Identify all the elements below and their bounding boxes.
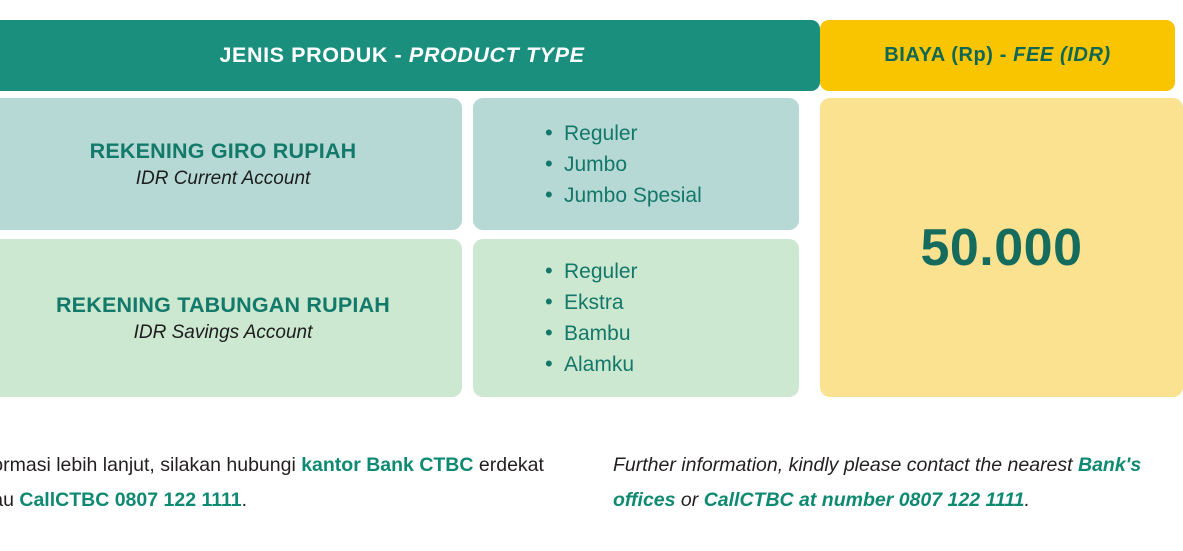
note-en-part2: or bbox=[676, 489, 704, 511]
note-id-part3: . bbox=[242, 489, 247, 511]
fee-value-cell: 50.000 bbox=[820, 98, 1183, 397]
list-item: Reguler bbox=[545, 118, 799, 149]
variant-cell-savings-account: Reguler Ekstra Bambu Alamku bbox=[473, 239, 799, 397]
header-product-type-id: JENIS PRODUK bbox=[219, 43, 387, 67]
header-product-type-en: PRODUCT TYPE bbox=[409, 43, 585, 67]
header-fee-id: BIAYA (Rp) bbox=[884, 44, 993, 66]
fee-table: JENIS PRODUK - PRODUCT TYPE BIAYA (Rp) -… bbox=[0, 20, 1183, 397]
header-cell-fee: BIAYA (Rp) - FEE (IDR) bbox=[820, 20, 1175, 91]
list-item: Jumbo Spesial bbox=[545, 180, 799, 211]
header-fee-text: BIAYA (Rp) - FEE (IDR) bbox=[884, 44, 1111, 67]
note-english: Further information, kindly please conta… bbox=[613, 448, 1183, 518]
header-product-type-text: JENIS PRODUK - PRODUCT TYPE bbox=[219, 43, 584, 68]
header-fee-en: FEE (IDR) bbox=[1013, 44, 1111, 66]
product-cell-savings-account: REKENING TABUNGAN RUPIAH IDR Savings Acc… bbox=[0, 239, 462, 397]
note-en-part3: . bbox=[1025, 489, 1030, 511]
variant-list: Reguler Ekstra Bambu Alamku bbox=[473, 256, 799, 380]
fee-table-infographic: JENIS PRODUK - PRODUCT TYPE BIAYA (Rp) -… bbox=[0, 0, 1183, 551]
list-item: Alamku bbox=[545, 349, 799, 380]
product-subtitle: IDR Savings Account bbox=[134, 322, 313, 344]
header-fee-separator: - bbox=[994, 44, 1014, 66]
table-body: REKENING GIRO RUPIAH IDR Current Account… bbox=[0, 98, 1183, 397]
product-name: REKENING TABUNGAN RUPIAH bbox=[56, 293, 390, 318]
product-cell-current-account: REKENING GIRO RUPIAH IDR Current Account bbox=[0, 98, 462, 230]
list-item: Bambu bbox=[545, 318, 799, 349]
variant-list: Reguler Jumbo Jumbo Spesial bbox=[473, 118, 799, 211]
table-header-row: JENIS PRODUK - PRODUCT TYPE BIAYA (Rp) -… bbox=[0, 20, 1183, 91]
note-indonesian: nformasi lebih lanjut, silakan hubungi k… bbox=[0, 448, 576, 518]
product-subtitle: IDR Current Account bbox=[136, 168, 311, 190]
product-name: REKENING GIRO RUPIAH bbox=[90, 139, 357, 164]
list-item: Jumbo bbox=[545, 149, 799, 180]
list-item: Reguler bbox=[545, 256, 799, 287]
note-en-emphasis-callcenter: CallCTBC at number 0807 122 1111 bbox=[704, 489, 1025, 511]
note-id-emphasis-callcenter: CallCTBC 0807 122 1111 bbox=[19, 489, 241, 511]
note-id-emphasis-office: kantor Bank CTBC bbox=[301, 454, 473, 476]
note-id-part1: nformasi lebih lanjut, silakan hubungi bbox=[0, 454, 301, 476]
note-en-part1: Further information, kindly please conta… bbox=[613, 454, 1078, 476]
variant-cell-current-account: Reguler Jumbo Jumbo Spesial bbox=[473, 98, 799, 230]
header-cell-product-type: JENIS PRODUK - PRODUCT TYPE bbox=[0, 20, 820, 91]
fee-amount: 50.000 bbox=[920, 218, 1082, 278]
list-item: Ekstra bbox=[545, 287, 799, 318]
header-product-type-separator: - bbox=[388, 43, 409, 67]
